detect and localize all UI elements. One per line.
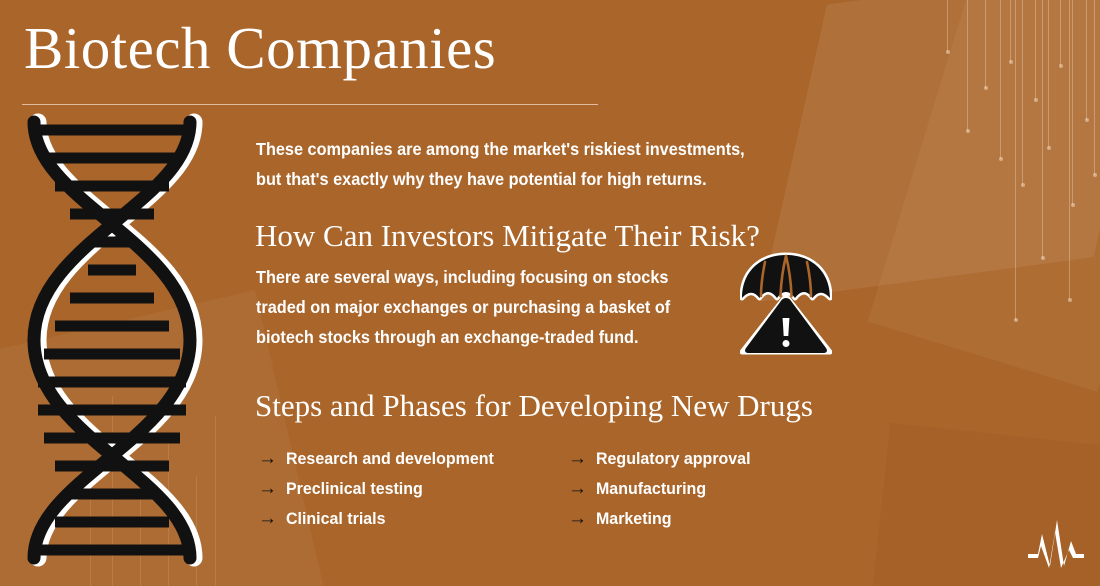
- arrow-right-icon: →: [568, 504, 587, 534]
- title-divider: [22, 104, 598, 105]
- list-item: → Regulatory approval: [568, 444, 878, 474]
- umbrella-warning-icon: [740, 252, 832, 356]
- decor-line: [1000, 0, 1001, 159]
- list-item-label: Regulatory approval: [596, 444, 751, 474]
- steps-column-1: → Research and development → Preclinical…: [258, 444, 568, 534]
- steps-section-heading: Steps and Phases for Developing New Drug…: [255, 388, 813, 424]
- decor-line: [947, 0, 948, 52]
- dna-double-helix-icon: [16, 112, 216, 567]
- decor-line: [1086, 0, 1087, 120]
- decor-line: [985, 0, 986, 88]
- decor-line: [1015, 0, 1016, 320]
- list-item-label: Research and development: [286, 444, 494, 474]
- decor-line: [1010, 0, 1011, 62]
- list-item: → Manufacturing: [568, 474, 878, 504]
- infographic-canvas: Biotech Companies: [0, 0, 1100, 586]
- decor-line: [1069, 0, 1070, 300]
- risk-body-line-2: traded on major exchanges or purchasing …: [256, 292, 721, 322]
- list-item-label: Clinical trials: [286, 504, 385, 534]
- risk-section-heading: How Can Investors Mitigate Their Risk?: [255, 218, 760, 254]
- decor-line: [967, 0, 968, 131]
- list-item: → Clinical trials: [258, 504, 568, 534]
- list-item-label: Manufacturing: [596, 474, 706, 504]
- list-item-label: Marketing: [596, 504, 671, 534]
- steps-column-2: → Regulatory approval → Manufacturing → …: [568, 444, 878, 534]
- list-item: → Marketing: [568, 504, 878, 534]
- decor-line: [1048, 0, 1049, 148]
- list-item: → Research and development: [258, 444, 568, 474]
- arrow-right-icon: →: [568, 474, 587, 504]
- risk-body-line-1: There are several ways, including focusi…: [256, 262, 721, 292]
- arrow-right-icon: →: [258, 504, 277, 534]
- page-title: Biotech Companies: [24, 18, 496, 80]
- intro-line-2: but that's exactly why they have potenti…: [256, 164, 795, 194]
- decor-line: [1094, 0, 1095, 175]
- arrow-right-icon: →: [568, 444, 587, 474]
- decor-line: [1042, 0, 1043, 258]
- background-wedge-top-right-2: [868, 0, 1100, 392]
- decor-line: [1035, 0, 1036, 100]
- decor-line: [1060, 0, 1061, 66]
- intro-line-1: These companies are among the market's r…: [256, 134, 795, 164]
- list-item: → Preclinical testing: [258, 474, 568, 504]
- arrow-right-icon: →: [258, 474, 277, 504]
- marketbeat-logo-icon: [1028, 510, 1084, 568]
- risk-body-line-3: biotech stocks through an exchange-trade…: [256, 322, 721, 352]
- arrow-right-icon: →: [258, 444, 277, 474]
- decor-line: [1022, 0, 1023, 185]
- intro-paragraph: These companies are among the market's r…: [256, 134, 795, 194]
- risk-section-body: There are several ways, including focusi…: [256, 262, 721, 352]
- steps-list: → Research and development → Preclinical…: [258, 444, 878, 534]
- decor-line: [1072, 0, 1073, 205]
- list-item-label: Preclinical testing: [286, 474, 423, 504]
